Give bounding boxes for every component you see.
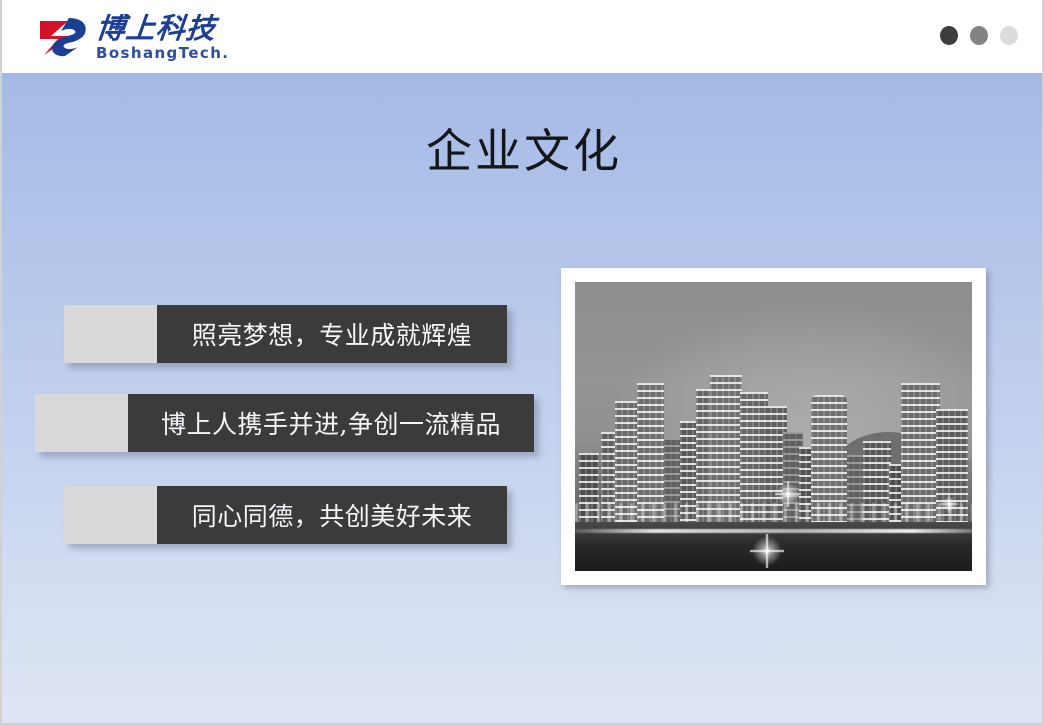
light-flare [940, 495, 958, 513]
pagination-dot-3[interactable] [1000, 26, 1018, 45]
culture-statement-text: 照亮梦想，专业成就辉煌 [192, 316, 473, 352]
page-title: 企业文化 [2, 128, 1044, 174]
cityscape-photo [575, 282, 972, 571]
logo-name-en: BoshangTech. [96, 46, 229, 61]
logo-text: 博上科技 BoshangTech. [96, 14, 229, 61]
row-chip [64, 486, 157, 544]
cityscape-photo-frame [561, 268, 986, 585]
row-body: 博上人携手并进,争创一流精品 [128, 394, 534, 452]
light-flare [750, 534, 784, 568]
row-chip [35, 394, 128, 452]
presentation-slide: 博上科技 BoshangTech. 企业文化 照亮梦想，专业成就辉煌 博上人携手… [0, 0, 1044, 725]
culture-statement-text: 同心同德，共创美好未来 [192, 497, 473, 533]
slide-canvas: 企业文化 照亮梦想，专业成就辉煌 博上人携手并进,争创一流精品 同心同德，共创美… [2, 73, 1044, 723]
pagination-dot-1[interactable] [940, 26, 958, 45]
culture-statement-row: 照亮梦想，专业成就辉煌 [64, 305, 507, 363]
slide-header: 博上科技 BoshangTech. [2, 0, 1044, 73]
culture-statement-row: 博上人携手并进,争创一流精品 [35, 394, 534, 452]
row-body: 同心同德，共创美好未来 [157, 486, 507, 544]
pagination-dots[interactable] [940, 26, 1018, 45]
culture-statement-row: 同心同德，共创美好未来 [64, 486, 507, 544]
logo-name-cn: 博上科技 [94, 14, 231, 44]
culture-statement-text: 博上人携手并进,争创一流精品 [161, 405, 501, 441]
pagination-dot-2[interactable] [970, 26, 988, 45]
light-trail [575, 529, 972, 533]
light-flare [775, 481, 801, 507]
company-logo[interactable]: 博上科技 BoshangTech. [38, 12, 229, 62]
row-body: 照亮梦想，专业成就辉煌 [157, 305, 507, 363]
row-chip [64, 305, 157, 363]
logo-mark-icon [38, 15, 90, 59]
